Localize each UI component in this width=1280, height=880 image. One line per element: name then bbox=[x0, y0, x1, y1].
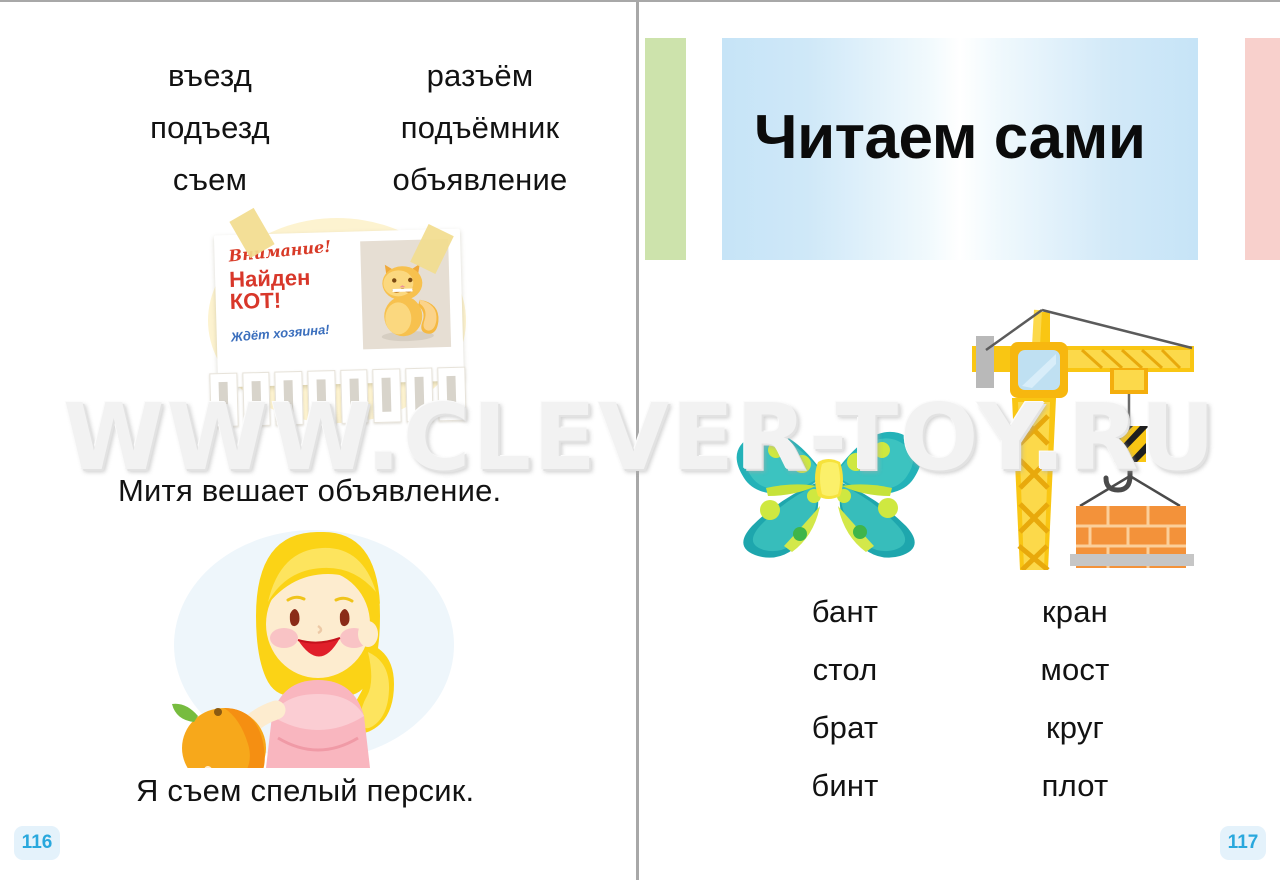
book-spread: WWW.CLEVER-TOY.RU въезд подъезд съем раз… bbox=[0, 0, 1280, 880]
bow-icon bbox=[714, 404, 944, 570]
right-word-column-1: бант стол брат бинт bbox=[760, 594, 930, 804]
left-word-column-2: разъём подъёмник объявление bbox=[360, 58, 600, 198]
caption-peach: Я съем спелый персик. bbox=[136, 773, 474, 809]
left-word-column-1: въезд подъезд съем bbox=[90, 58, 330, 198]
right-word-list: бант стол брат бинт кран мост круг плот bbox=[760, 594, 1160, 804]
tear-tab bbox=[340, 369, 369, 424]
word: бант bbox=[760, 594, 930, 630]
poster-tear-off-tabs bbox=[209, 367, 466, 430]
word: разъём bbox=[360, 58, 600, 94]
word: объявление bbox=[360, 162, 600, 198]
tear-tab bbox=[438, 367, 467, 422]
word: бинт bbox=[760, 768, 930, 804]
word: подъёмник bbox=[360, 110, 600, 146]
tear-tab bbox=[242, 372, 271, 427]
section-title: Читаем сами bbox=[754, 102, 1145, 173]
section-tab-pink bbox=[1245, 38, 1280, 260]
tear-tab bbox=[372, 368, 401, 423]
bow-illustration bbox=[714, 404, 944, 570]
crane-illustration bbox=[962, 284, 1212, 570]
tear-tab bbox=[405, 368, 434, 423]
tear-tab bbox=[307, 370, 336, 425]
poster-waits-text: Ждёт хозяина! bbox=[230, 322, 330, 345]
word: кран bbox=[990, 594, 1160, 630]
word: брат bbox=[760, 710, 930, 746]
girl-icon bbox=[168, 520, 468, 768]
tower-crane-icon bbox=[962, 284, 1212, 570]
page-number-left: 116 bbox=[14, 826, 60, 860]
tear-tab bbox=[209, 373, 238, 428]
word: въезд bbox=[90, 58, 330, 94]
section-tab-green bbox=[645, 38, 686, 260]
word: мост bbox=[990, 652, 1160, 688]
poster-found-line2: КОТ! bbox=[229, 288, 281, 314]
poster-found-text: Найден КОТ! bbox=[229, 267, 311, 314]
caption-mitya: Митя вешает объявление. bbox=[118, 473, 501, 509]
tear-tab bbox=[275, 371, 304, 426]
page-spine-divider bbox=[636, 2, 639, 880]
word: круг bbox=[990, 710, 1160, 746]
page-number-right: 117 bbox=[1220, 826, 1266, 860]
word: стол bbox=[760, 652, 930, 688]
word: подъезд bbox=[90, 110, 330, 146]
left-word-list: въезд подъезд съем разъём подъёмник объя… bbox=[90, 58, 600, 198]
lost-cat-poster-illustration: Внимание! Найден КОТ! Ждёт хозяина! bbox=[186, 204, 496, 454]
girl-with-peach-illustration bbox=[168, 520, 468, 768]
right-word-column-2: кран мост круг плот bbox=[990, 594, 1160, 804]
word: плот bbox=[990, 768, 1160, 804]
word: съем bbox=[90, 162, 330, 198]
